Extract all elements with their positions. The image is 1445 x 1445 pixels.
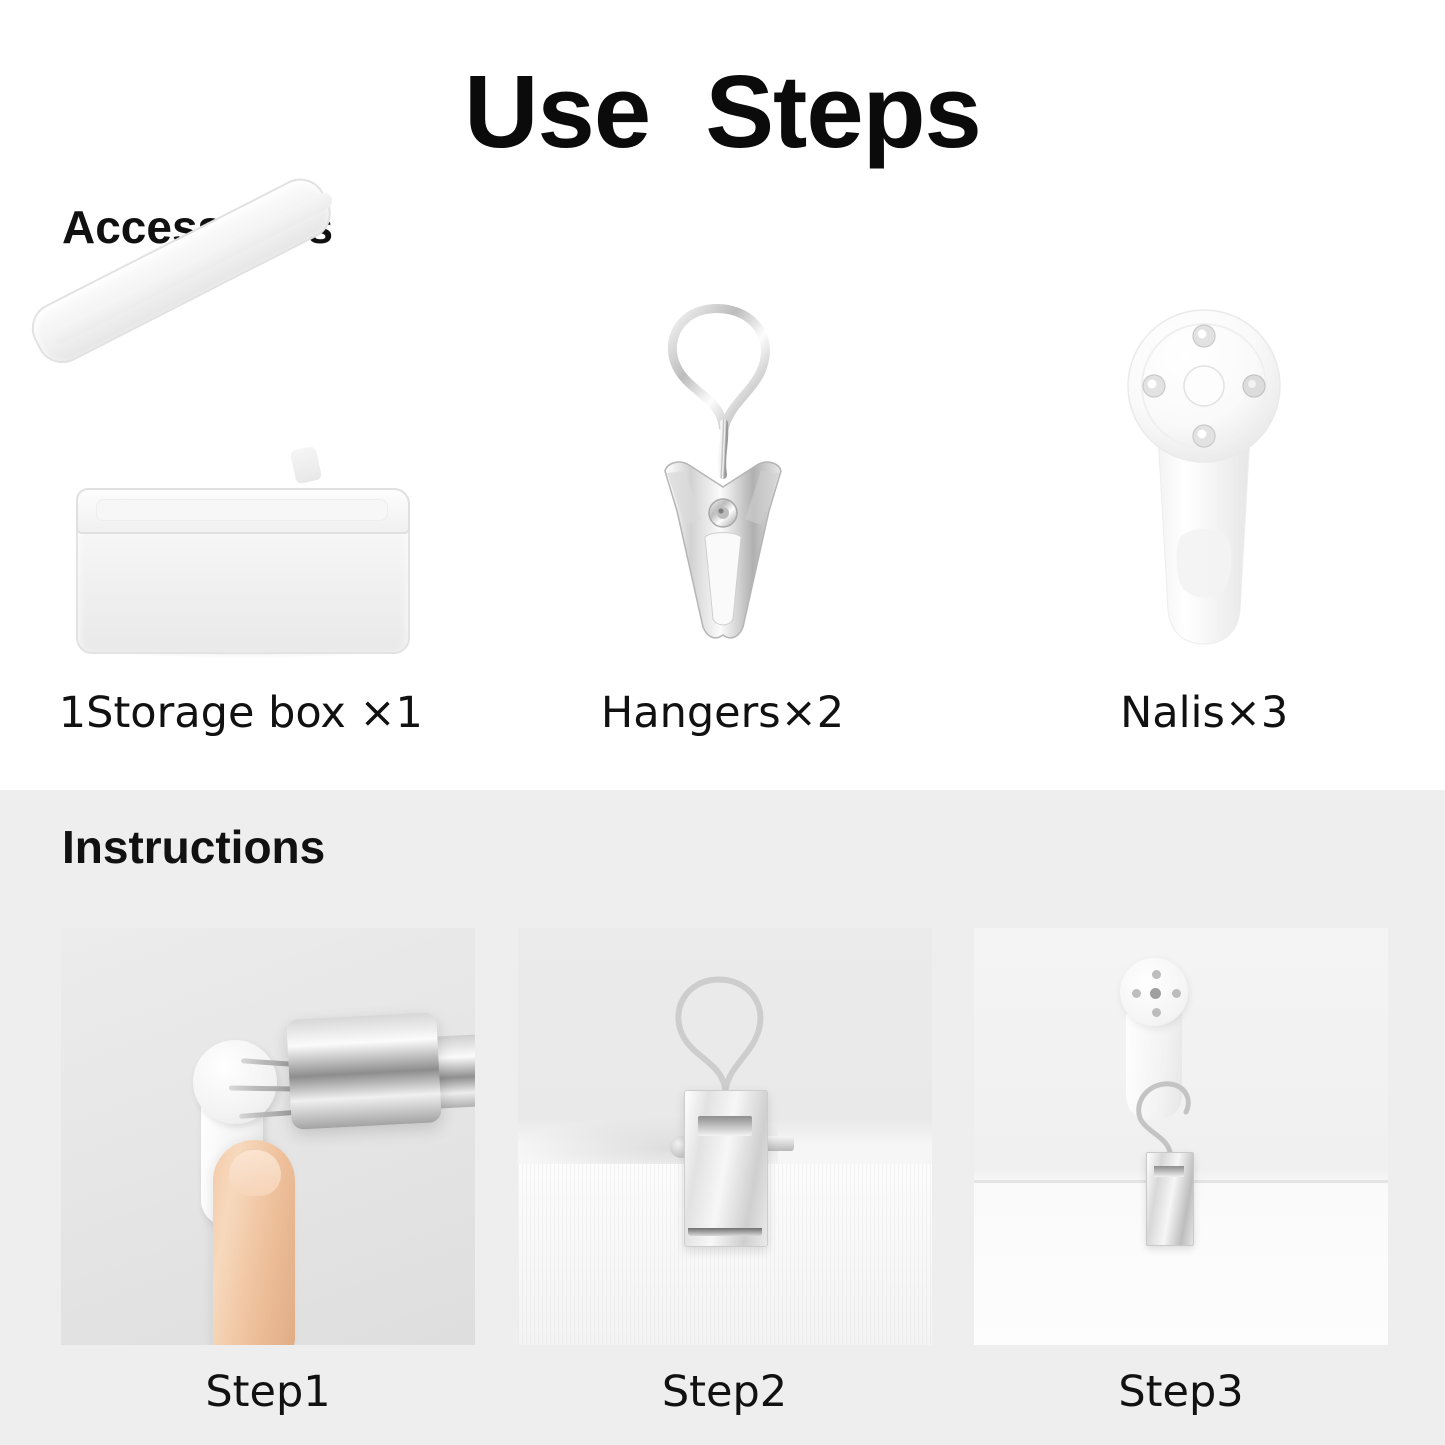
step-label: Step1 [205, 1367, 330, 1417]
instructions-heading: Instructions [62, 820, 325, 874]
accessory-item-hangers: Hangers×2 [482, 270, 964, 770]
accessory-label: Hangers×2 [601, 688, 844, 738]
step-label: Step2 [662, 1367, 787, 1417]
clip-hanging-on-hook-photo [974, 928, 1388, 1345]
step-item-1: Step1 [61, 928, 475, 1417]
accessory-item-storage-box: 1Storage box ×1 [0, 270, 482, 770]
accessories-section: Use Steps Accessories 1Storage box ×1 [0, 0, 1445, 790]
page-title: Use Steps [0, 60, 1445, 163]
step-label: Step3 [1118, 1367, 1243, 1417]
storage-box-icon [0, 270, 482, 670]
accessory-item-nails: Nalis×3 [963, 270, 1445, 770]
accessory-label: Nalis×3 [1120, 688, 1288, 738]
hammering-nail-hook-photo [61, 928, 475, 1345]
steps-list: Step1 Step2 [61, 928, 1388, 1417]
step-item-3: Step3 [974, 928, 1388, 1417]
accessory-list: 1Storage box ×1 [0, 270, 1445, 770]
accessory-label: 1Storage box ×1 [59, 688, 423, 738]
clip-on-fabric-photo [518, 928, 932, 1345]
nail-hook-icon [963, 270, 1445, 670]
hanger-clip-icon [482, 270, 964, 670]
instructions-section: Instructions Step1 [0, 790, 1445, 1445]
step-item-2: Step2 [518, 928, 932, 1417]
